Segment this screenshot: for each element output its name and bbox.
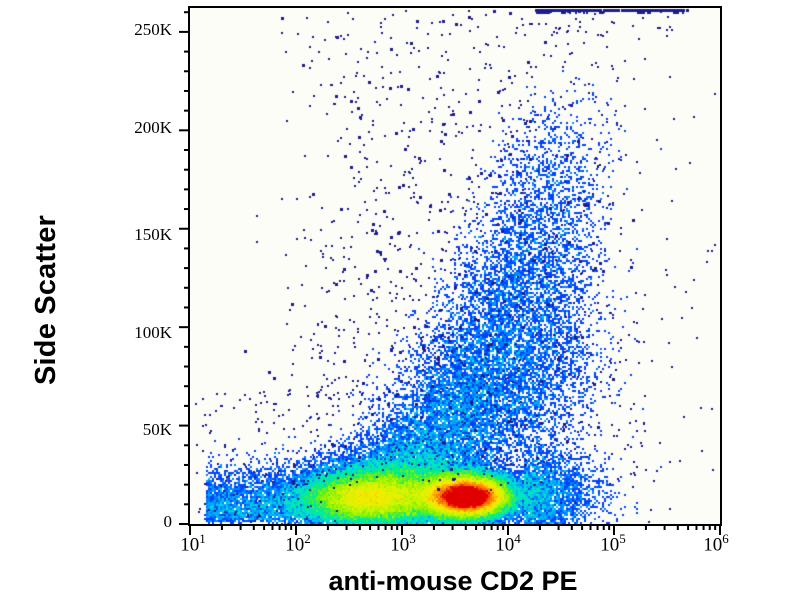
y-tick-label: 100K — [116, 323, 172, 343]
scatter-density-canvas — [190, 8, 720, 524]
y-axis-tick-labels: 0 50K 100K 150K 200K 250K — [110, 0, 172, 600]
x-tick-label: 101 — [180, 531, 206, 556]
x-axis-title: anti-mouse CD2 PE — [188, 566, 718, 597]
flow-cytometry-figure: Side Scatter 0 50K 100K 150K 200K 250K 1… — [0, 0, 800, 600]
y-tick-label: 0 — [116, 512, 172, 532]
y-tick-label: 150K — [116, 225, 172, 245]
x-tick-label: 104 — [495, 531, 521, 556]
y-tick-label: 50K — [116, 420, 172, 440]
x-axis-tick-labels: 101 102 103 104 105 106 — [0, 531, 800, 565]
x-tick-label: 106 — [703, 531, 729, 556]
x-tick-label: 105 — [600, 531, 626, 556]
y-tick-label: 200K — [116, 118, 172, 138]
plot-area — [188, 6, 722, 526]
y-tick-label: 250K — [116, 20, 172, 40]
x-tick-label: 102 — [285, 531, 311, 556]
x-tick-label: 103 — [390, 531, 416, 556]
